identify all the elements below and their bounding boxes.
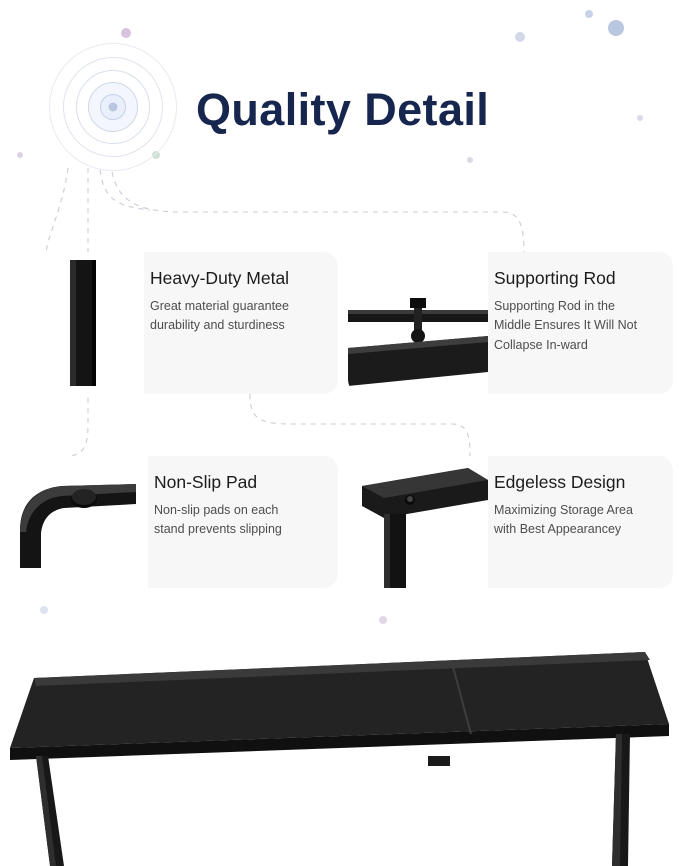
- card-heading: Edgeless Design: [494, 472, 659, 493]
- card-body: Maximizing Storage Area with Best Appear…: [494, 501, 659, 540]
- card-body-line: Non-slip pads on each: [154, 501, 324, 520]
- black-desk-photo: [0, 630, 679, 866]
- card-body: Supporting Rod in the Middle Ensures It …: [494, 297, 659, 355]
- card-body: Great material guarantee durability and …: [150, 297, 324, 336]
- card-non-slip-pad: Non-Slip Pad Non-slip pads on each stand…: [8, 456, 338, 588]
- card-text-heavy-duty-metal: Heavy-Duty Metal Great material guarante…: [144, 252, 338, 394]
- card-supporting-rod: Supporting Rod Supporting Rod in the Mid…: [348, 252, 673, 394]
- card-body-line: durability and sturdiness: [150, 316, 324, 335]
- edgeless-corner-photo: [348, 456, 488, 588]
- card-heading: Supporting Rod: [494, 268, 659, 289]
- card-text-non-slip-pad: Non-Slip Pad Non-slip pads on each stand…: [148, 456, 338, 588]
- card-body-line: Supporting Rod in the: [494, 297, 659, 316]
- card-body: Non-slip pads on each stand prevents sli…: [154, 501, 324, 540]
- infographic-page: Quality Detail Heavy-Duty Metal: [0, 0, 679, 866]
- card-body-line: stand prevents slipping: [154, 520, 324, 539]
- card-body-line: Maximizing Storage Area: [494, 501, 659, 520]
- card-edgeless-design: Edgeless Design Maximizing Storage Area …: [348, 456, 673, 588]
- metal-leg-photo: [8, 252, 144, 394]
- card-heavy-duty-metal: Heavy-Duty Metal Great material guarante…: [8, 252, 338, 394]
- card-body-line: Middle Ensures It Will Not: [494, 316, 659, 335]
- supporting-rod-photo: [348, 252, 488, 394]
- card-heading: Non-Slip Pad: [154, 472, 324, 493]
- card-body-line: with Best Appearancey: [494, 520, 659, 539]
- card-text-edgeless-design: Edgeless Design Maximizing Storage Area …: [488, 456, 673, 588]
- card-body-line: Collapse In-ward: [494, 336, 659, 355]
- card-heading: Heavy-Duty Metal: [150, 268, 324, 289]
- card-text-supporting-rod: Supporting Rod Supporting Rod in the Mid…: [488, 252, 673, 394]
- non-slip-pad-photo: [8, 456, 148, 588]
- card-body-line: Great material guarantee: [150, 297, 324, 316]
